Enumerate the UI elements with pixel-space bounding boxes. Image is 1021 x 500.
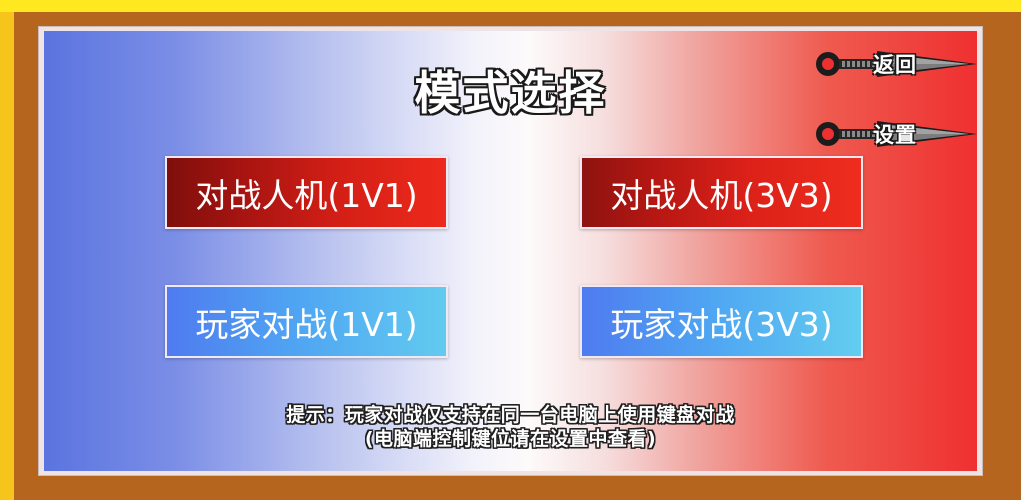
content-stage: 模式选择 返回: [44, 31, 977, 471]
hint-line-2: (电脑端控制键位请在设置中查看): [44, 427, 977, 451]
back-button[interactable]: 返回: [813, 47, 977, 81]
mode-button-ai-1v1[interactable]: 对战人机(1V1): [165, 156, 448, 229]
hint-text: 提示：玩家对战仅支持在同一台电脑上使用键盘对战 (电脑端控制键位请在设置中查看): [44, 403, 977, 451]
mode-button-label: 对战人机(3V3): [610, 169, 832, 217]
hint-line-1: 提示：玩家对战仅支持在同一台电脑上使用键盘对战: [44, 403, 977, 427]
mode-button-pvp-3v3[interactable]: 玩家对战(3V3): [580, 285, 863, 358]
mode-select-screen: 模式选择 返回: [0, 0, 1021, 500]
mode-button-label: 玩家对战(3V3): [610, 298, 832, 346]
kunai-icon: [813, 117, 977, 151]
settings-button[interactable]: 设置: [813, 117, 977, 151]
mode-button-pvp-1v1[interactable]: 玩家对战(1V1): [165, 285, 448, 358]
mode-button-label: 对战人机(1V1): [195, 169, 417, 217]
mode-button-label: 玩家对战(1V1): [195, 298, 417, 346]
kunai-icon: [813, 47, 977, 81]
mode-button-ai-3v3[interactable]: 对战人机(3V3): [580, 156, 863, 229]
